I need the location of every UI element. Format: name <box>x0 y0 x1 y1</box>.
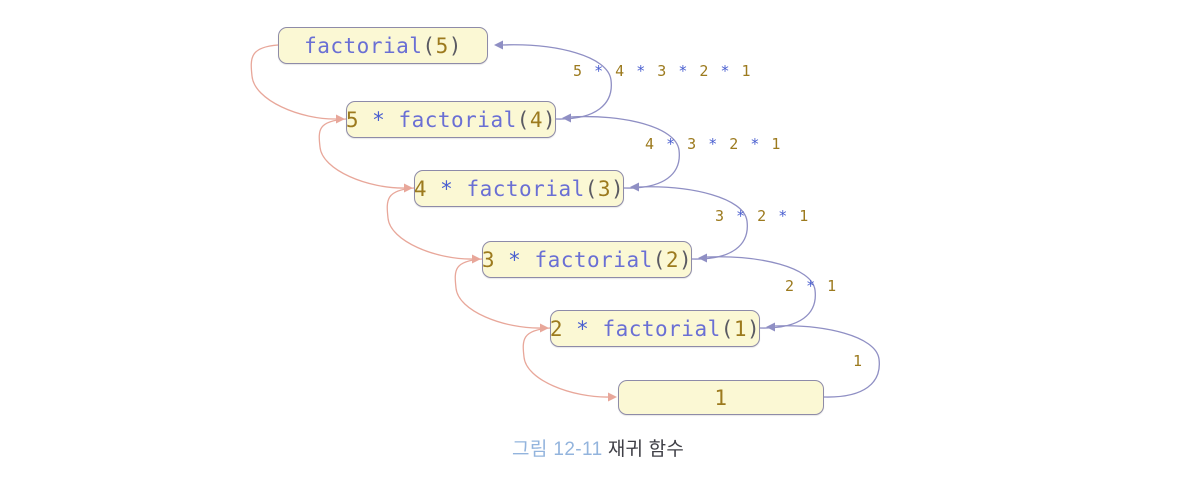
return-label-text-token <box>605 62 616 80</box>
call-box-text-token: ( <box>585 177 598 201</box>
call-box-text-token: factorial <box>398 108 516 132</box>
call-box-text-token: ( <box>422 34 435 58</box>
figure-caption: 그림 12-11 재귀 함수 <box>0 434 1196 461</box>
recursion-diagram: factorial(5)5 * factorial(4)4 * factoria… <box>0 0 1196 492</box>
call-box-text-token: 5 <box>346 108 359 132</box>
return-label-text-token: 1 <box>853 352 864 370</box>
return-label-return-24: 4 * 3 * 2 * 1 <box>645 135 782 153</box>
call-box-text-token <box>563 317 576 341</box>
call-box-text-token: ) <box>543 108 556 132</box>
return-label-text-token <box>668 62 679 80</box>
call-box-text-token: factorial <box>466 177 584 201</box>
return-label-text-token: 1 <box>771 135 782 153</box>
return-label-text-token <box>761 135 772 153</box>
figure-caption-number: 그림 12-11 <box>512 439 603 460</box>
call-box-text-token: 5 <box>436 34 449 58</box>
return-label-text-token <box>626 62 637 80</box>
return-label-return-1: 1 <box>853 352 864 370</box>
call-box-text-token: * <box>372 108 385 132</box>
call-box-text-token: ( <box>517 108 530 132</box>
return-label-text-token: * <box>736 207 747 225</box>
return-label-text-token <box>689 62 700 80</box>
call-box-text-token: 1 <box>714 386 727 410</box>
call-box-text-token: ) <box>679 248 692 272</box>
return-arrow-head-return-2-to-3 <box>630 183 639 192</box>
return-label-return-6: 3 * 2 * 1 <box>715 207 810 225</box>
return-label-text-token <box>656 135 667 153</box>
call-box-text-token: factorial <box>602 317 720 341</box>
call-box-text-token: factorial <box>534 248 652 272</box>
return-arrow-head-return-1-to-2 <box>698 254 707 263</box>
return-label-text-token: 3 <box>687 135 698 153</box>
return-label-text-token: 2 <box>729 135 740 153</box>
return-label-text-token: 2 <box>699 62 710 80</box>
return-label-text-token: * <box>594 62 605 80</box>
call-arrow-head-call-4-to-3 <box>404 184 413 193</box>
return-label-text-token <box>584 62 595 80</box>
call-box-text-token <box>495 248 508 272</box>
call-box-text-token <box>453 177 466 201</box>
return-label-text-token <box>719 135 730 153</box>
call-box-factorial-3: 4 * factorial(3) <box>414 170 624 207</box>
return-label-text-token: 2 <box>785 277 796 295</box>
call-box-text-token: 4 <box>530 108 543 132</box>
call-arrow-head-call-3-to-2 <box>472 255 481 264</box>
return-label-text-token: * <box>666 135 677 153</box>
return-label-text-token: 4 <box>615 62 626 80</box>
call-box-text-token: * <box>576 317 589 341</box>
call-box-text-token: factorial <box>304 34 422 58</box>
call-box-text-token <box>427 177 440 201</box>
return-label-text-token <box>647 62 658 80</box>
return-label-text-token <box>747 207 758 225</box>
return-label-text-token <box>710 62 721 80</box>
call-box-text-token <box>521 248 534 272</box>
return-label-text-token <box>740 135 751 153</box>
return-label-text-token: 3 <box>715 207 726 225</box>
call-box-text-token: ( <box>721 317 734 341</box>
call-box-text-token: ( <box>653 248 666 272</box>
return-label-text-token: * <box>678 62 689 80</box>
return-label-text-token: 2 <box>757 207 768 225</box>
call-box-text-token: 3 <box>598 177 611 201</box>
call-arrow-head-call-1-to-base <box>608 393 617 402</box>
return-label-text-token: * <box>750 135 761 153</box>
return-label-return-120: 5 * 4 * 3 * 2 * 1 <box>573 62 752 80</box>
call-arrows-group <box>251 45 617 402</box>
return-arrow-head-return-base-to-1 <box>766 323 775 332</box>
call-box-text-token: 3 <box>482 248 495 272</box>
return-label-text-token <box>796 277 807 295</box>
call-box-text-token <box>589 317 602 341</box>
call-box-text-token <box>359 108 372 132</box>
return-label-text-token: 4 <box>645 135 656 153</box>
return-label-text-token: 1 <box>799 207 810 225</box>
call-box-text-token <box>385 108 398 132</box>
call-box-text-token: * <box>440 177 453 201</box>
return-label-text-token <box>817 277 828 295</box>
return-arrow-head-return-3-to-4 <box>562 114 571 123</box>
call-box-base-case-1: 1 <box>618 380 824 415</box>
call-box-text-token: ) <box>611 177 624 201</box>
return-label-text-token: 1 <box>827 277 838 295</box>
call-box-text-token: 1 <box>734 317 747 341</box>
return-label-text-token: 1 <box>742 62 753 80</box>
call-arrow-head-call-5-to-4 <box>336 115 345 124</box>
call-box-factorial-2: 3 * factorial(2) <box>482 241 692 278</box>
return-label-text-token <box>768 207 779 225</box>
return-label-text-token: * <box>708 135 719 153</box>
return-label-text-token <box>677 135 688 153</box>
return-label-return-2: 2 * 1 <box>785 277 838 295</box>
return-label-text-token <box>698 135 709 153</box>
call-box-text-token: * <box>508 248 521 272</box>
call-arrow-head-call-2-to-1 <box>540 324 549 333</box>
call-box-factorial-1: 2 * factorial(1) <box>550 310 760 347</box>
call-box-text-token: ) <box>449 34 462 58</box>
return-label-text-token: 3 <box>657 62 668 80</box>
call-box-text-token: 2 <box>666 248 679 272</box>
return-label-text-token: * <box>720 62 731 80</box>
call-box-factorial-5: factorial(5) <box>278 27 488 64</box>
return-label-text-token: * <box>636 62 647 80</box>
return-label-text-token: * <box>806 277 817 295</box>
figure-caption-title: 재귀 함수 <box>608 439 684 460</box>
return-label-text-token: * <box>778 207 789 225</box>
call-box-text-token: ) <box>747 317 760 341</box>
call-box-text-token: 4 <box>414 177 427 201</box>
return-label-text-token: 5 <box>573 62 584 80</box>
call-box-text-token: 2 <box>550 317 563 341</box>
return-label-text-token <box>731 62 742 80</box>
return-arrow-head-return-4-to-5 <box>494 41 503 50</box>
call-box-factorial-4: 5 * factorial(4) <box>346 101 556 138</box>
return-label-text-token <box>726 207 737 225</box>
return-label-text-token <box>789 207 800 225</box>
